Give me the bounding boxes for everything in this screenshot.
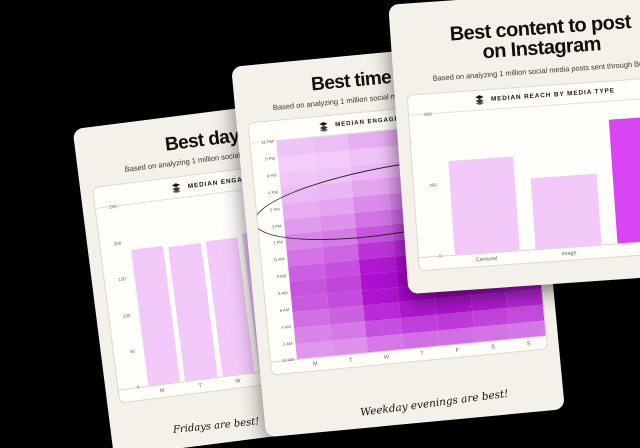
heatmap-cell[interactable] [473,324,510,343]
bar[interactable] [531,174,601,249]
y-tick-label: 5 PM [270,206,280,212]
x-tick-label: W [219,376,258,387]
buffer-stacked-layers-icon [475,95,485,106]
x-tick-label: W [368,353,404,362]
y-tick-label: 800 [424,111,432,117]
y-tick-label: 50 [130,349,135,355]
y-tick-label: 4 AM [281,324,291,330]
x-tick-label: S [475,343,511,352]
y-tick-label: 0 [439,253,442,258]
card-best-content-chart-panel: MEDIAN REACH BY MEDIA TYPE 8004000 Carou… [407,75,640,271]
y-tick-label: 0 [137,385,140,390]
y-tick-label: 250 [109,204,117,210]
heatmap-cell[interactable] [296,340,333,359]
y-tick-label: 9 PM [265,156,275,162]
y-tick-label: 6 PM [268,189,278,195]
bar[interactable] [448,156,520,254]
heatmap-cell[interactable] [402,330,439,349]
buffer-stacked-layers-icon [319,121,329,132]
y-tick-label: 400 [429,182,437,188]
y-tick-label: 8 AM [278,290,288,296]
x-tick-label: T [181,381,220,392]
y-tick-label: 3 PM [271,223,281,229]
y-tick-label: 11 AM [273,257,285,263]
heatmap-cell[interactable] [367,334,404,353]
card-best-content-title: Best content to post on Instagram [412,9,640,68]
poster-stack-canvas: Best day to post Based on analyzing 1 mi… [0,0,640,448]
x-tick-label: T [333,357,369,366]
x-tick-label: T [404,350,440,359]
x-tick-label: S [511,340,547,349]
heatmap-cell[interactable] [438,327,475,346]
x-tick-label: F [440,347,476,356]
y-tick-label: 200 [114,240,122,246]
y-tick-label: 100 [123,313,131,319]
bar-chart-plot: 8004000 [409,96,640,257]
card-best-day-note: Fridays are best! [173,416,260,436]
bar[interactable] [608,115,640,243]
heatmap-cell[interactable] [331,337,368,356]
y-tick-label: 150 [118,276,126,282]
y-tick-label: 1 PM [273,240,283,246]
buffer-stacked-layers-icon [171,183,181,194]
heatmap-cell[interactable] [509,320,546,339]
y-tick-label: 11 PM [261,139,273,145]
y-tick-label: 2 AM [283,340,293,346]
y-tick-label: 6 AM [279,307,289,313]
x-tick-label: Carousel [445,253,528,265]
bar-series [435,96,640,255]
card-best-time-note: Weekday evenings are best! [360,388,510,419]
x-tick-label: Reel [610,242,640,254]
chart-caption: MEDIAN REACH BY MEDIA TYPE [491,87,615,103]
card-best-content[interactable]: Best content to post on Instagram Based … [388,0,640,294]
x-tick-label: M [297,360,333,369]
y-tick-label: 9 AM [276,273,286,279]
x-tick-label: M [143,386,182,397]
x-tick-label: Image [528,248,611,260]
y-tick-label: 8 PM [267,173,277,179]
